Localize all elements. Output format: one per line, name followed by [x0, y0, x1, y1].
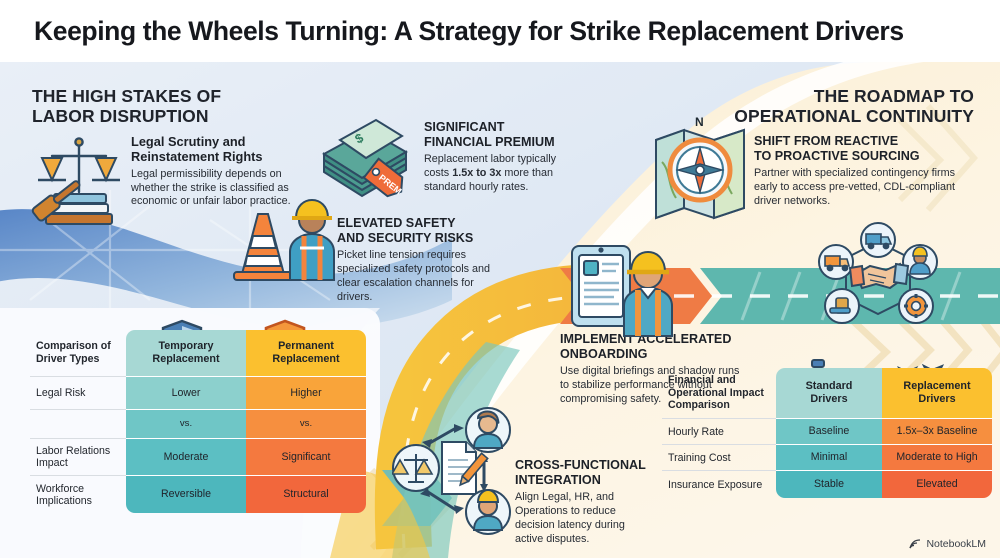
row-label-hourly-rate: Hourly Rate — [662, 418, 776, 444]
cell-legal-risk-temporary: Lower — [126, 376, 246, 409]
brand-name: NotebookLM — [926, 538, 986, 550]
row-label-vs — [30, 409, 126, 438]
svg-text:N: N — [695, 115, 704, 129]
cell-training-cost-standard: Minimal — [776, 444, 882, 470]
column-header-standard-drivers: StandardDrivers — [776, 368, 882, 418]
cell-vs-temporary: vs. — [126, 409, 246, 438]
partner-network-handshake-icon — [806, 222, 950, 339]
row-label-labor-relations: Labor Relations Impact — [30, 438, 126, 475]
row-label-workforce: Workforce Implications — [30, 475, 126, 513]
point-financial-premium: SIGNIFICANT FINANCIAL PREMIUM Replacemen… — [424, 120, 576, 195]
cell-legal-risk-permanent: Higher — [246, 376, 366, 409]
page-title: Keeping the Wheels Turning: A Strategy f… — [34, 16, 904, 47]
section-heading-right: THE ROADMAP TO OPERATIONAL CONTINUITY — [734, 86, 974, 127]
point-legal-heading: Legal Scrutiny and Reinstatement Rights — [131, 134, 296, 165]
point-safety-risks: ELEVATED SAFETY AND SECURITY RISKS Picke… — [337, 216, 497, 304]
cell-hourly-rate-replacement: 1.5x–3x Baseline — [882, 418, 992, 444]
cell-hourly-rate-standard: Baseline — [776, 418, 882, 444]
section-heading-right-line2: OPERATIONAL CONTINUITY — [734, 106, 974, 126]
traffic-cone-worker-icon — [228, 196, 338, 293]
map-compass-icon: N — [648, 112, 752, 229]
column-header-replacement-drivers: ReplacementDrivers — [882, 368, 992, 418]
infographic-canvas: Keeping the Wheels Turning: A Strategy f… — [0, 0, 1000, 558]
point-shift-heading: SHIFT FROM REACTIVE TO PROACTIVE SOURCIN… — [754, 134, 969, 164]
point-shift-body: Partner with specialized contingency fir… — [754, 167, 969, 208]
point-safety-heading: ELEVATED SAFETY AND SECURITY RISKS — [337, 216, 497, 246]
table-corner-label: Comparison of Driver Types — [30, 330, 126, 376]
tablet-worker-onboarding-icon — [566, 240, 682, 343]
row-label-legal-risk: Legal Risk — [30, 376, 126, 409]
financial-multiplier: 1.5x to 3x — [452, 167, 501, 179]
notebooklm-logo-icon — [909, 539, 922, 550]
cell-training-cost-replacement: Moderate to High — [882, 444, 992, 470]
column-header-temporary: TemporaryReplacement — [126, 330, 246, 376]
cell-workforce-permanent: Structural — [246, 475, 366, 513]
cell-insurance-replacement: Elevated — [882, 470, 992, 498]
section-heading-left-line1: THE HIGH STAKES OF — [32, 86, 221, 106]
point-cross-body: Align Legal, HR, and Operations to reduc… — [515, 491, 655, 546]
point-financial-heading: SIGNIFICANT FINANCIAL PREMIUM — [424, 120, 576, 150]
point-safety-body: Picket line tension requires specialized… — [337, 249, 497, 304]
point-cross-functional: CROSS-FUNCTIONAL INTEGRATION Align Legal… — [515, 458, 655, 546]
section-heading-left: THE HIGH STAKES OF LABOR DISRUPTION — [32, 86, 221, 127]
point-proactive-sourcing: SHIFT FROM REACTIVE TO PROACTIVE SOURCIN… — [754, 134, 969, 209]
cell-workforce-temporary: Reversible — [126, 475, 246, 513]
scales-gavel-books-icon — [30, 128, 128, 243]
table-financial-operational: Financial and Operational Impact Compari… — [662, 368, 992, 498]
brand-footer: NotebookLM — [909, 538, 986, 550]
table-corner-label-financial: Financial and Operational Impact Compari… — [662, 368, 776, 418]
cell-insurance-standard: Stable — [776, 470, 882, 498]
cell-labor-relations-permanent: Significant — [246, 438, 366, 475]
section-heading-right-line1: THE ROADMAP TO — [734, 86, 974, 106]
row-label-training-cost: Training Cost — [662, 444, 776, 470]
section-heading-left-line2: LABOR DISRUPTION — [32, 106, 221, 126]
cell-vs-permanent: vs. — [246, 409, 366, 438]
point-financial-body: Replacement labor typically costs 1.5x t… — [424, 153, 576, 194]
row-label-insurance-exposure: Insurance Exposure — [662, 470, 776, 498]
column-header-permanent: PermanentReplacement — [246, 330, 366, 376]
scales-document-people-network-icon — [392, 402, 528, 545]
table-driver-types: Comparison of Driver Types TemporaryRepl… — [30, 330, 366, 513]
cell-labor-relations-temporary: Moderate — [126, 438, 246, 475]
point-cross-heading: CROSS-FUNCTIONAL INTEGRATION — [515, 458, 655, 488]
page-title-bar: Keeping the Wheels Turning: A Strategy f… — [0, 0, 1000, 62]
